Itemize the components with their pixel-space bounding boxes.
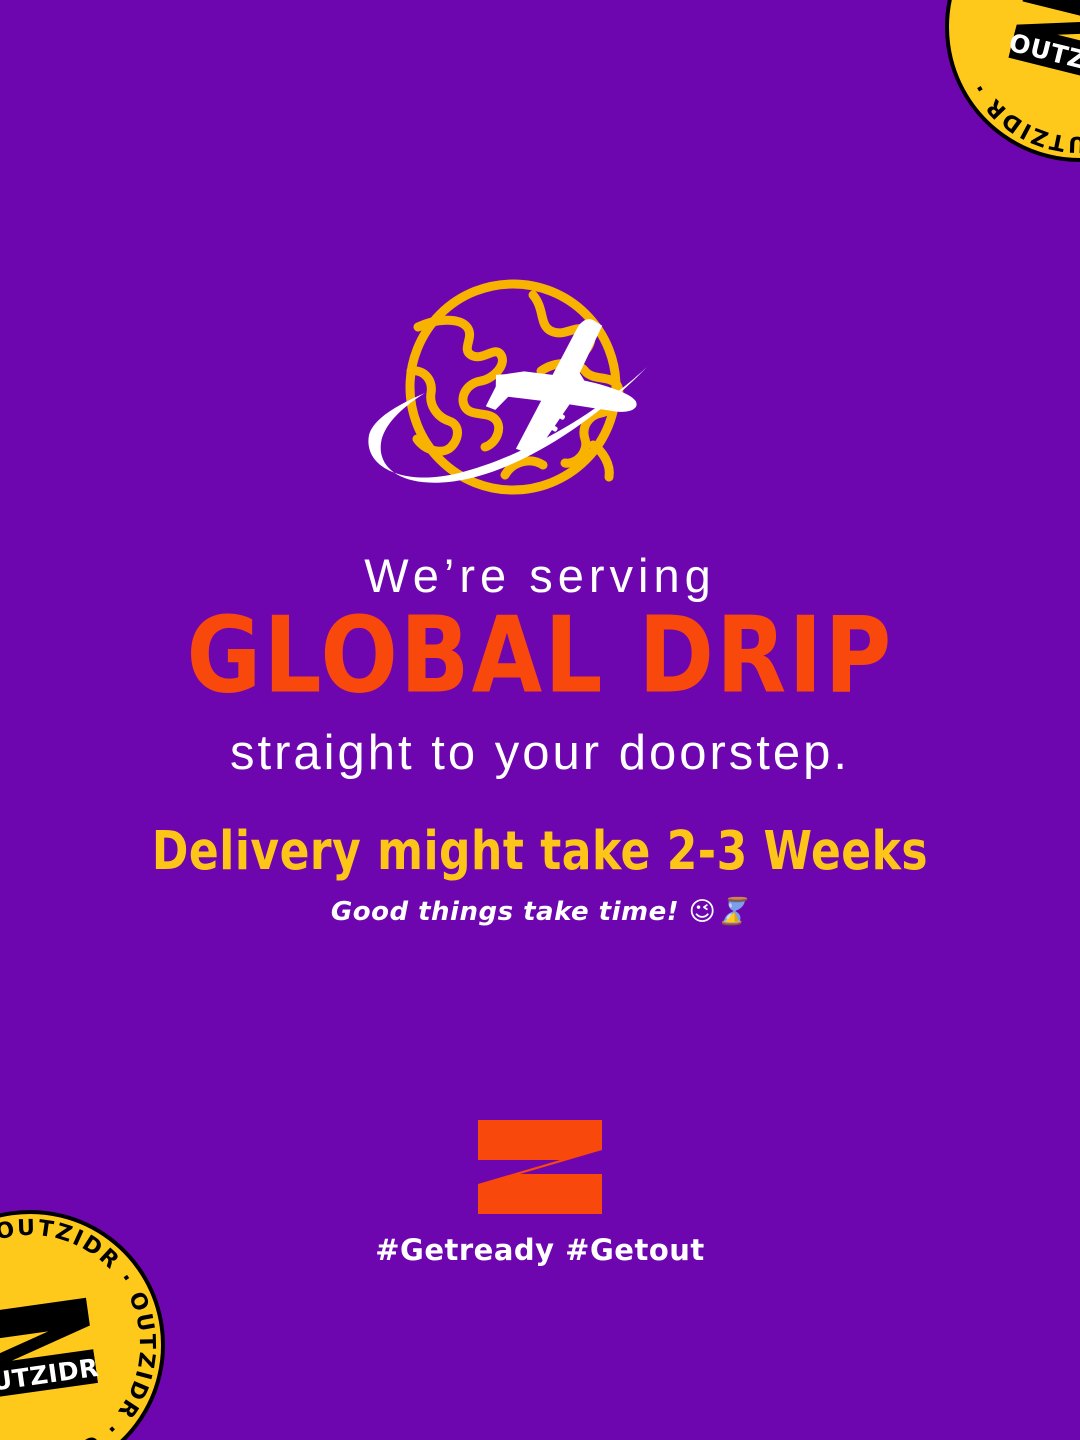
delivery-notice-block: Delivery might take 2-3 Weeks Good thing… <box>0 820 1080 927</box>
outzidr-z-logo <box>478 1120 602 1214</box>
outzidr-badge-top-right: OUTZIDR · OUTZIDR · OUTZIDR · OUTZIDR · … <box>916 0 1080 191</box>
headline-copy-block: We’re serving GLOBAL DRIP straight to yo… <box>0 548 1080 783</box>
page-title: GLOBAL DRIP <box>0 602 1080 712</box>
delivery-subnote-text: Good things take time! 😉⌛ <box>0 897 1080 927</box>
delivery-notice-text: Delivery might take 2-3 Weeks <box>0 820 1080 882</box>
z-glyph-icon <box>478 1120 602 1214</box>
globe-airplane-icon <box>355 275 710 510</box>
poster-canvas: OUTZIDR · OUTZIDR · OUTZIDR · OUTZIDR · … <box>0 0 1080 1440</box>
footer-block: #Getready #Getout <box>0 1120 1080 1267</box>
subline-text: straight to your doorstep. <box>0 724 1080 783</box>
hashtags-text: #Getready #Getout <box>0 1233 1080 1267</box>
